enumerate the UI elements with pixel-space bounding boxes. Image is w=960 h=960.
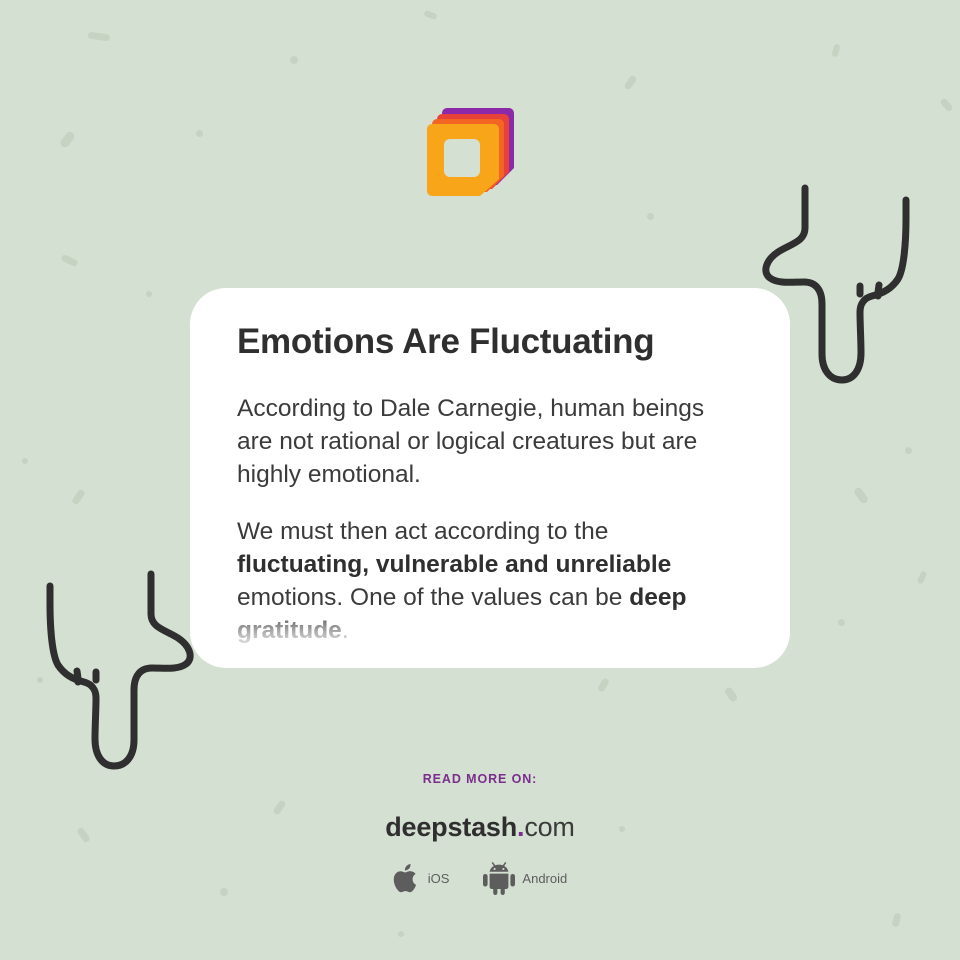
deepstash-logo <box>425 100 521 200</box>
confetti-speck <box>917 570 928 584</box>
confetti-speck <box>597 677 610 693</box>
brand-tld: com <box>524 812 574 842</box>
body-text: According to Dale Carnegie, human beings… <box>237 395 704 488</box>
body-text: . <box>342 617 349 644</box>
confetti-speck <box>623 74 637 90</box>
confetti-speck <box>88 32 111 42</box>
confetti-speck <box>146 291 152 297</box>
store-label-ios: iOS <box>428 871 450 886</box>
store-badge-android[interactable]: Android <box>483 862 567 895</box>
confetti-speck <box>831 43 840 57</box>
read-more-label: READ MORE ON: <box>0 772 960 786</box>
brand-name: deepstash <box>385 812 517 842</box>
card-paragraph: According to Dale Carnegie, human beings… <box>237 392 744 491</box>
brand-wordmark: deepstash.com <box>0 812 960 843</box>
confetti-speck <box>939 97 953 112</box>
confetti-speck <box>853 486 869 505</box>
confetti-speck <box>423 10 437 20</box>
card-body: According to Dale Carnegie, human beings… <box>237 392 744 647</box>
poster-canvas: Emotions Are Fluctuating According to Da… <box>0 0 960 960</box>
card-paragraph: We must then act according to the fluctu… <box>237 515 744 647</box>
store-badge-ios[interactable]: iOS <box>393 862 450 895</box>
confetti-speck <box>60 254 78 268</box>
emphasis-text: fluctuating, vulnerable and unreliable <box>237 551 671 578</box>
confetti-speck <box>398 931 404 937</box>
confetti-speck <box>647 213 654 220</box>
confetti-speck <box>59 130 77 149</box>
body-text: emotions. One of the values can be <box>237 584 629 611</box>
apple-icon <box>393 862 421 895</box>
quote-card: Emotions Are Fluctuating According to Da… <box>190 288 790 668</box>
confetti-speck <box>838 619 845 626</box>
confetti-speck <box>22 458 28 464</box>
confetti-speck <box>290 56 298 64</box>
confetti-speck <box>905 447 912 454</box>
android-icon <box>483 862 515 895</box>
store-badges: iOS <box>0 862 960 895</box>
store-label-android: Android <box>522 871 567 886</box>
confetti-speck <box>71 488 86 505</box>
page-title: Emotions Are Fluctuating <box>237 322 744 362</box>
confetti-speck <box>723 686 738 703</box>
confetti-speck <box>196 130 203 137</box>
body-text: We must then act according to the <box>237 518 608 545</box>
confetti-speck <box>891 912 901 927</box>
pointing-hand-illustration-left <box>24 558 204 780</box>
